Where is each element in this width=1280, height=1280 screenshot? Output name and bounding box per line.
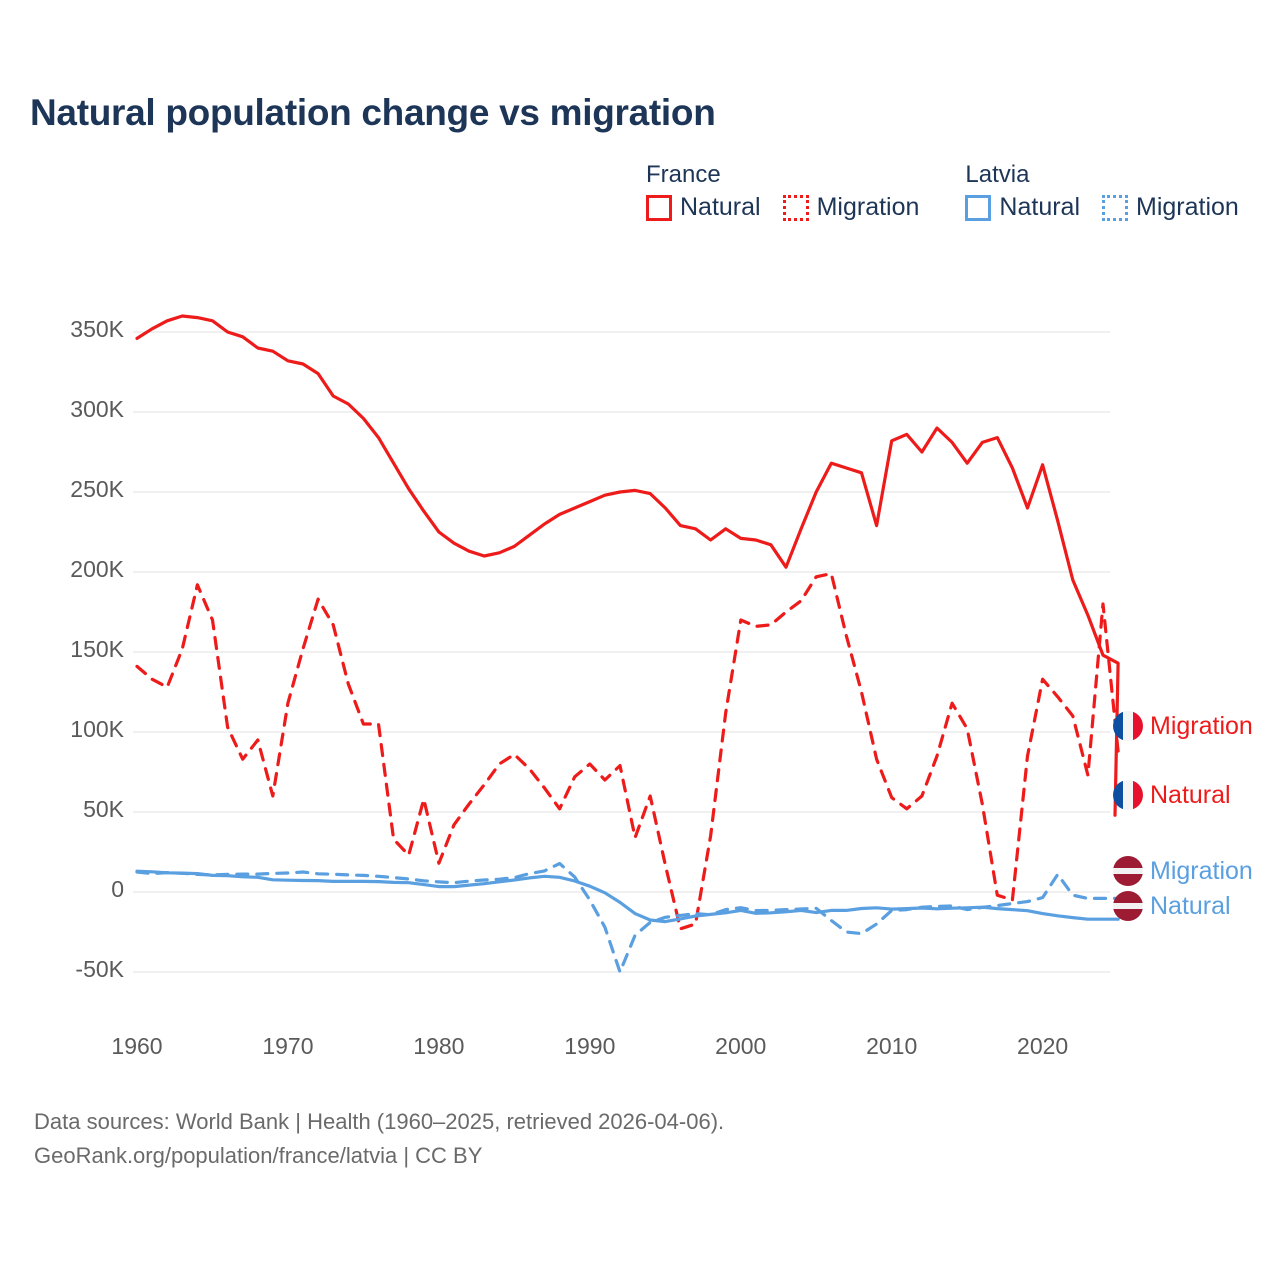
y-axis-tick-label: -50K [14, 956, 124, 983]
y-axis-tick-label: 250K [14, 476, 124, 503]
x-axis-tick-label: 1960 [92, 1033, 182, 1060]
footer-attribution: GeoRank.org/population/france/latvia | C… [34, 1139, 724, 1173]
y-axis-tick-label: 50K [14, 796, 124, 823]
series-end-label-text: Natural [1150, 892, 1231, 921]
series-end-label: Migration [1113, 856, 1253, 886]
series-end-label: Natural [1113, 891, 1231, 921]
latvia-flag-icon [1113, 856, 1143, 886]
footer-credits: Data sources: World Bank | Health (1960–… [34, 1105, 724, 1173]
y-axis-tick-label: 350K [14, 316, 124, 343]
series-end-label-text: Migration [1150, 712, 1253, 741]
france-flag-icon [1113, 780, 1143, 810]
series-end-label-text: Natural [1150, 781, 1231, 810]
y-axis-tick-label: 0 [14, 876, 124, 903]
x-axis-tick-label: 1970 [243, 1033, 333, 1060]
x-axis-tick-label: 1980 [394, 1033, 484, 1060]
x-axis-tick-label: 2020 [998, 1033, 1088, 1060]
y-axis-tick-label: 100K [14, 716, 124, 743]
series-end-label: Migration [1113, 711, 1253, 741]
x-axis-tick-label: 2010 [847, 1033, 937, 1060]
series-end-label-text: Migration [1150, 857, 1253, 886]
x-axis-tick-label: 2000 [696, 1033, 786, 1060]
series-end-label: Natural [1113, 780, 1231, 810]
chart-page: Natural population change vs migration F… [0, 0, 1280, 1280]
y-axis-tick-label: 200K [14, 556, 124, 583]
y-axis-tick-label: 300K [14, 396, 124, 423]
x-axis-tick-label: 1990 [545, 1033, 635, 1060]
y-axis-tick-label: 150K [14, 636, 124, 663]
footer-data-sources: Data sources: World Bank | Health (1960–… [34, 1105, 724, 1139]
latvia-flag-icon [1113, 891, 1143, 921]
plot-area: Population change -50K050K100K150K200K25… [0, 0, 1280, 1280]
france-flag-icon [1113, 711, 1143, 741]
